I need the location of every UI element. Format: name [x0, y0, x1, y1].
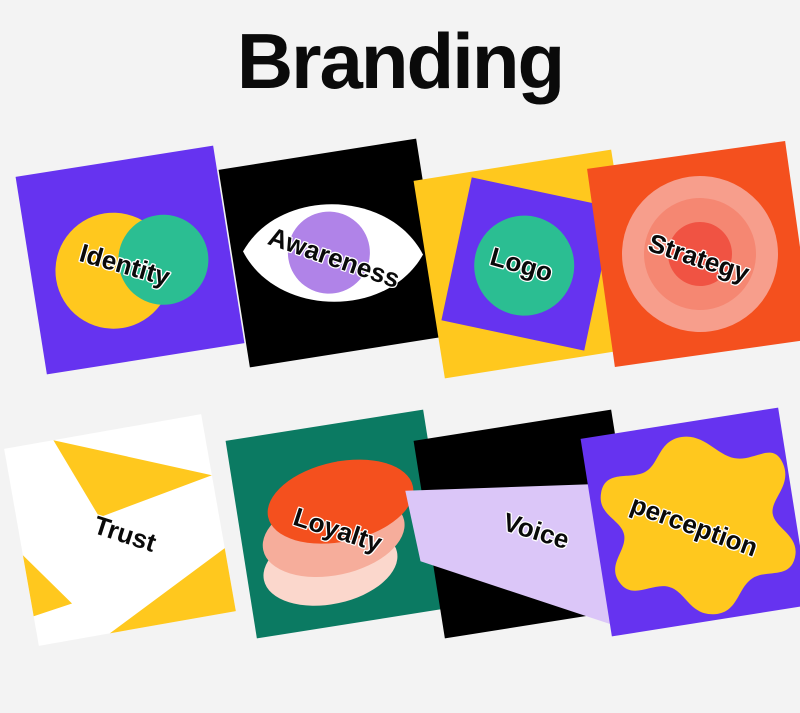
card-trust[interactable]: Trust [20, 430, 220, 630]
branding-poster: Branding Identity Awareness [0, 0, 800, 713]
card-awareness[interactable]: Awareness [233, 153, 433, 353]
card-loyalty-art [240, 424, 440, 624]
card-identity[interactable]: Identity [30, 160, 230, 360]
card-identity-art [30, 160, 230, 360]
card-trust-art [20, 430, 220, 630]
card-strategy[interactable]: Strategy [600, 154, 800, 354]
card-perception-art [595, 422, 795, 622]
card-loyalty[interactable]: Loyalty [240, 424, 440, 624]
page-title: Branding [0, 22, 800, 100]
card-strategy-art [600, 154, 800, 354]
card-awareness-art [233, 153, 433, 353]
card-perception[interactable]: perception [595, 422, 795, 622]
